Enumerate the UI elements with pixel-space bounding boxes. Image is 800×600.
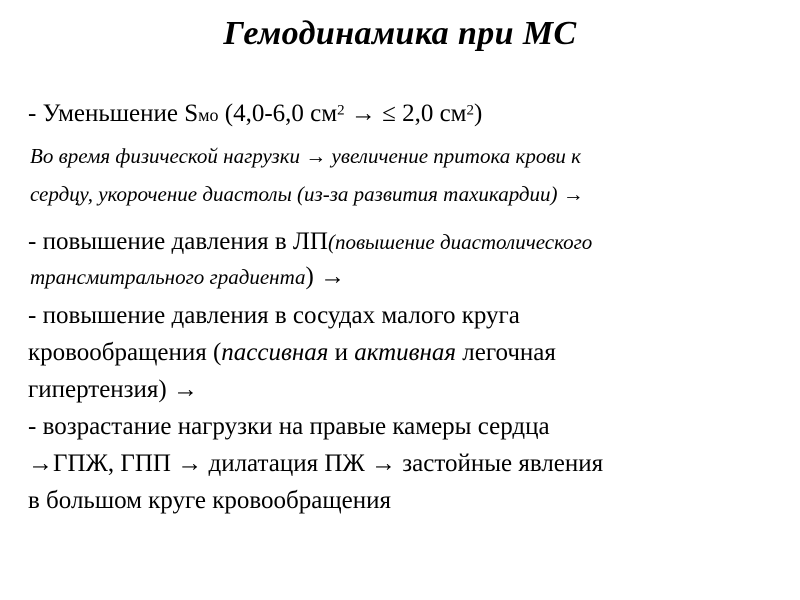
bullet-4-note-open: (повышение диастолического bbox=[328, 230, 592, 254]
bullet-1-superscript-1: 2 bbox=[337, 103, 345, 119]
bullet-line-9: - возрастание нагрузки на правые камеры … bbox=[28, 413, 550, 441]
bullet-9-text: - возрастание нагрузки на правые камеры … bbox=[28, 413, 550, 440]
bullet-6-text: - повышение давления в сосудах малого кр… bbox=[28, 302, 520, 329]
bullet-7-part-3: легочная bbox=[456, 339, 556, 366]
bullet-11-text: в большом круге кровообращения bbox=[28, 487, 391, 514]
bullet-line-6: - повышение давления в сосудах малого кр… bbox=[28, 302, 520, 330]
bullet-line-7: кровообращения (пассивная и активная лег… bbox=[28, 339, 556, 367]
bullet-4-main: - повышение давления в ЛП bbox=[28, 228, 328, 255]
bullet-1-close-paren: ) bbox=[474, 100, 482, 127]
bullet-10-text: →ГПЖ, ГПП → дилатация ПЖ → застойные явл… bbox=[28, 450, 603, 477]
italic-line-3-text: сердцу, укорочение диастолы (из-за разви… bbox=[30, 182, 584, 206]
bullet-7-italic-active: активная bbox=[354, 339, 456, 366]
bullet-line-5: трансмитрального градиента) → bbox=[30, 263, 345, 291]
bullet-7-part-2: и bbox=[328, 339, 354, 366]
bullet-1-superscript-2: 2 bbox=[467, 103, 475, 119]
italic-line-3: сердцу, укорочение диастолы (из-за разви… bbox=[30, 182, 584, 207]
bullet-line-10: →ГПЖ, ГПП → дилатация ПЖ → застойные явл… bbox=[28, 450, 603, 478]
bullet-line-4: - повышение давления в ЛП(повышение диас… bbox=[28, 228, 592, 256]
italic-line-2-text: Во время физической нагрузки → увеличени… bbox=[30, 144, 581, 168]
bullet-5-note-cont: трансмитрального градиента bbox=[30, 265, 306, 289]
bullet-1-lead: - Уменьшение S bbox=[28, 100, 198, 127]
bullet-1-range-open: (4,0-6,0 см bbox=[219, 100, 338, 127]
bullet-line-8: гипертензия) → bbox=[28, 376, 198, 404]
bullet-line-11: в большом круге кровообращения bbox=[28, 487, 391, 515]
bullet-line-1: - Уменьшение Sмо (4,0-6,0 см2 → ≤ 2,0 см… bbox=[28, 100, 482, 128]
bullet-7-italic-passive: пассивная bbox=[221, 339, 328, 366]
bullet-8-text: гипертензия) → bbox=[28, 376, 198, 403]
bullet-1-subscript: мо bbox=[198, 105, 218, 125]
slide-canvas: Гемодинамика при МС - Уменьшение Sмо (4,… bbox=[0, 0, 800, 600]
bullet-5-note-close: ) → bbox=[306, 263, 346, 290]
italic-line-2: Во время физической нагрузки → увеличени… bbox=[30, 144, 581, 169]
bullet-1-arrow-to: → ≤ 2,0 см bbox=[345, 100, 467, 127]
bullet-7-part-1: кровообращения ( bbox=[28, 339, 221, 366]
page-title: Гемодинамика при МС bbox=[0, 14, 800, 53]
